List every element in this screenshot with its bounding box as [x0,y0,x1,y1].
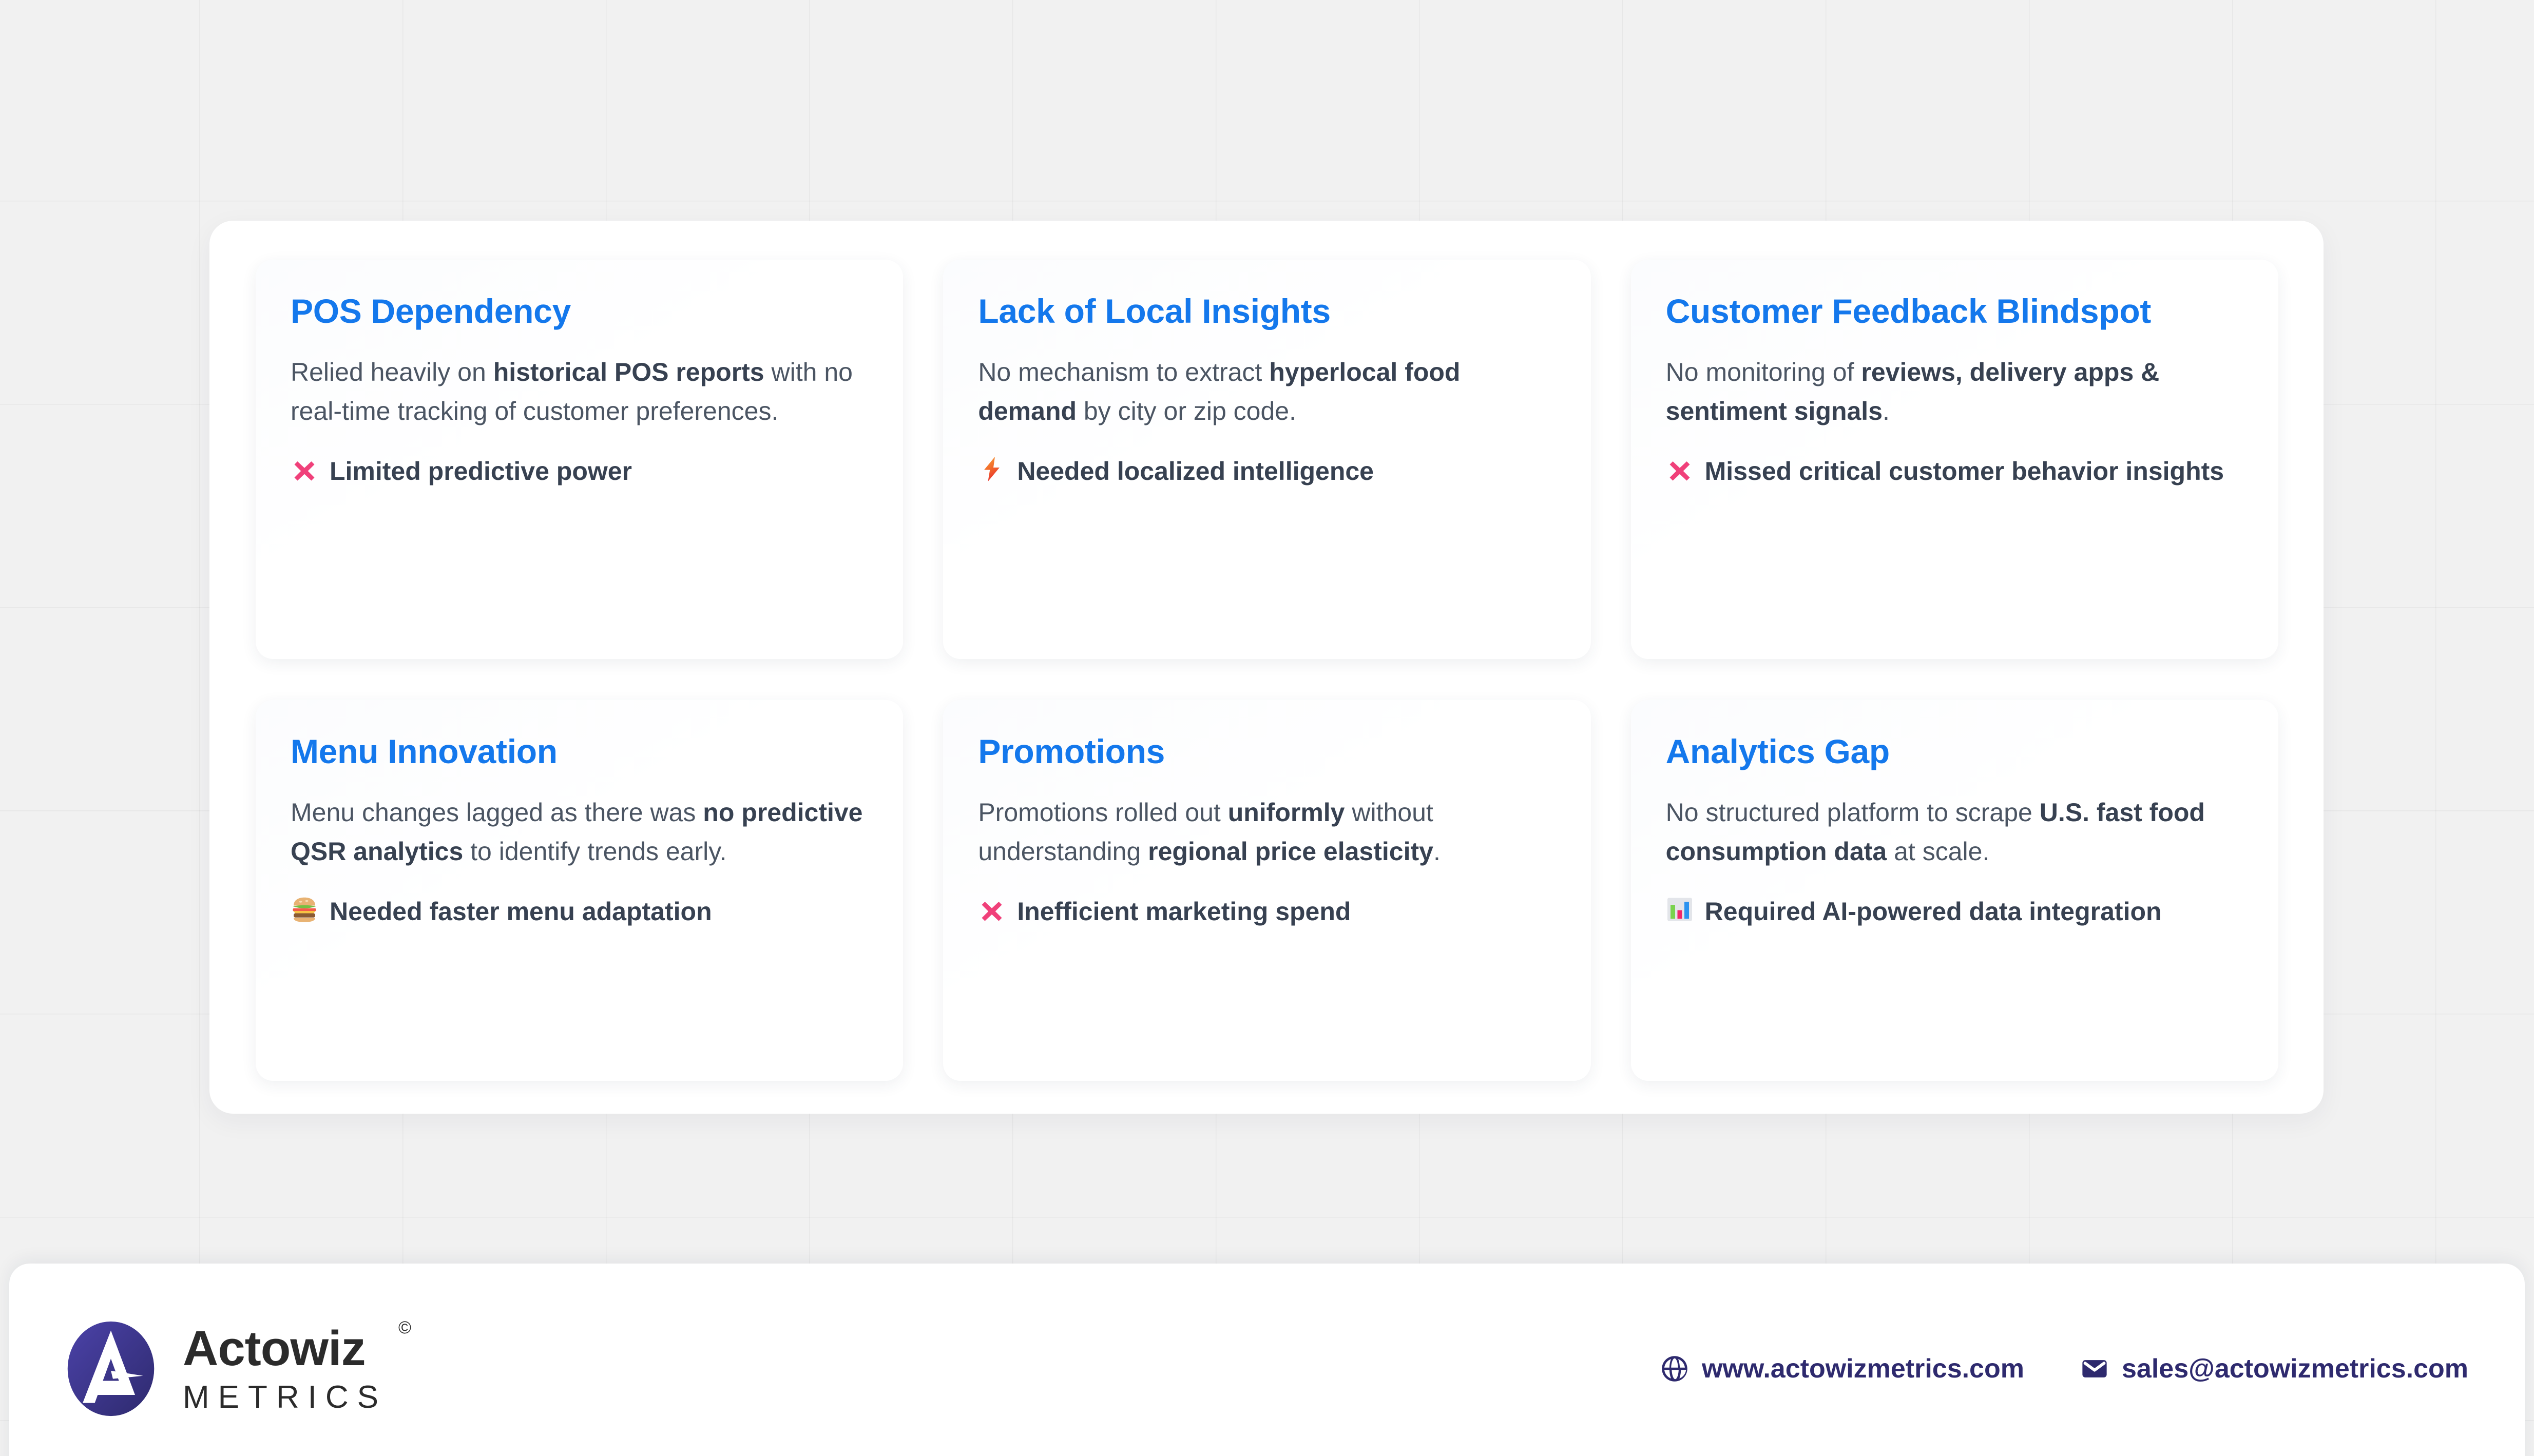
card-description: No monitoring of reviews, delivery apps … [1666,353,2243,431]
card-note-label: Needed faster menu adaptation [330,892,868,931]
brand-lockup: Actowiz © METRICS [61,1318,387,1419]
card-title: Analytics Gap [1666,733,2243,770]
cross-mark-icon [291,454,318,484]
bar-chart-icon [1666,895,1694,924]
card-note-label: Limited predictive power [330,452,868,491]
brand-name: Actowiz [183,1321,366,1376]
card-description: No mechanism to extract hyperlocal food … [978,353,1556,431]
card-note: Needed faster menu adaptation [291,892,868,931]
footer-contacts: www.actowizmetrics.comsales@actowizmetri… [1661,1353,2468,1384]
contact-label: www.actowizmetrics.com [1702,1353,2024,1384]
contact-label: sales@actowizmetrics.com [2122,1353,2468,1384]
card-description: Menu changes lagged as there was no pred… [291,793,868,871]
card-title: Promotions [978,733,1556,770]
page-footer: Actowiz © METRICS www.actowizmetrics.com… [9,1264,2525,1456]
brand-subtitle: METRICS [183,1382,387,1413]
card-note-label: Missed critical customer behavior insigh… [1705,452,2243,491]
card-note-label: Required AI-powered data integration [1705,892,2243,931]
card-note-label: Needed localized intelligence [1017,452,1556,491]
insight-card: PromotionsPromotions rolled out uniforml… [943,700,1590,1081]
card-description: No structured platform to scrape U.S. fa… [1666,793,2243,871]
lightning-bolt-icon [978,454,1006,484]
cross-mark-icon [978,895,1006,924]
card-title: Lack of Local Insights [978,293,1556,330]
mail-icon [2081,1355,2108,1383]
insight-card: Menu InnovationMenu changes lagged as th… [256,700,903,1081]
website-link[interactable]: www.actowizmetrics.com [1661,1353,2024,1384]
card-note: Needed localized intelligence [978,452,1556,491]
trademark-symbol: © [398,1319,411,1336]
insight-cards-grid: POS DependencyRelied heavily on historic… [256,260,2278,1081]
card-title: Customer Feedback Blindspot [1666,293,2243,330]
insight-card: Customer Feedback BlindspotNo monitoring… [1631,260,2278,659]
insight-card: Analytics GapNo structured platform to s… [1631,700,2278,1081]
card-note: Inefficient marketing spend [978,892,1556,931]
cross-mark-icon [1666,454,1694,484]
card-title: Menu Innovation [291,733,868,770]
insight-card: POS DependencyRelied heavily on historic… [256,260,903,659]
brand-wordmark: Actowiz © METRICS [183,1324,387,1413]
card-note: Missed critical customer behavior insigh… [1666,452,2243,491]
insight-card: Lack of Local InsightsNo mechanism to ex… [943,260,1590,659]
card-note: Limited predictive power [291,452,868,491]
card-note-label: Inefficient marketing spend [1017,892,1556,931]
globe-icon [1661,1355,1688,1383]
actowiz-a-logo-icon [61,1318,161,1419]
email-link[interactable]: sales@actowizmetrics.com [2081,1353,2468,1384]
insights-panel: POS DependencyRelied heavily on historic… [209,221,2324,1114]
hamburger-icon [291,895,318,924]
card-description: Relied heavily on historical POS reports… [291,353,868,431]
card-title: POS Dependency [291,293,868,330]
card-note: Required AI-powered data integration [1666,892,2243,931]
card-description: Promotions rolled out uniformly without … [978,793,1556,871]
